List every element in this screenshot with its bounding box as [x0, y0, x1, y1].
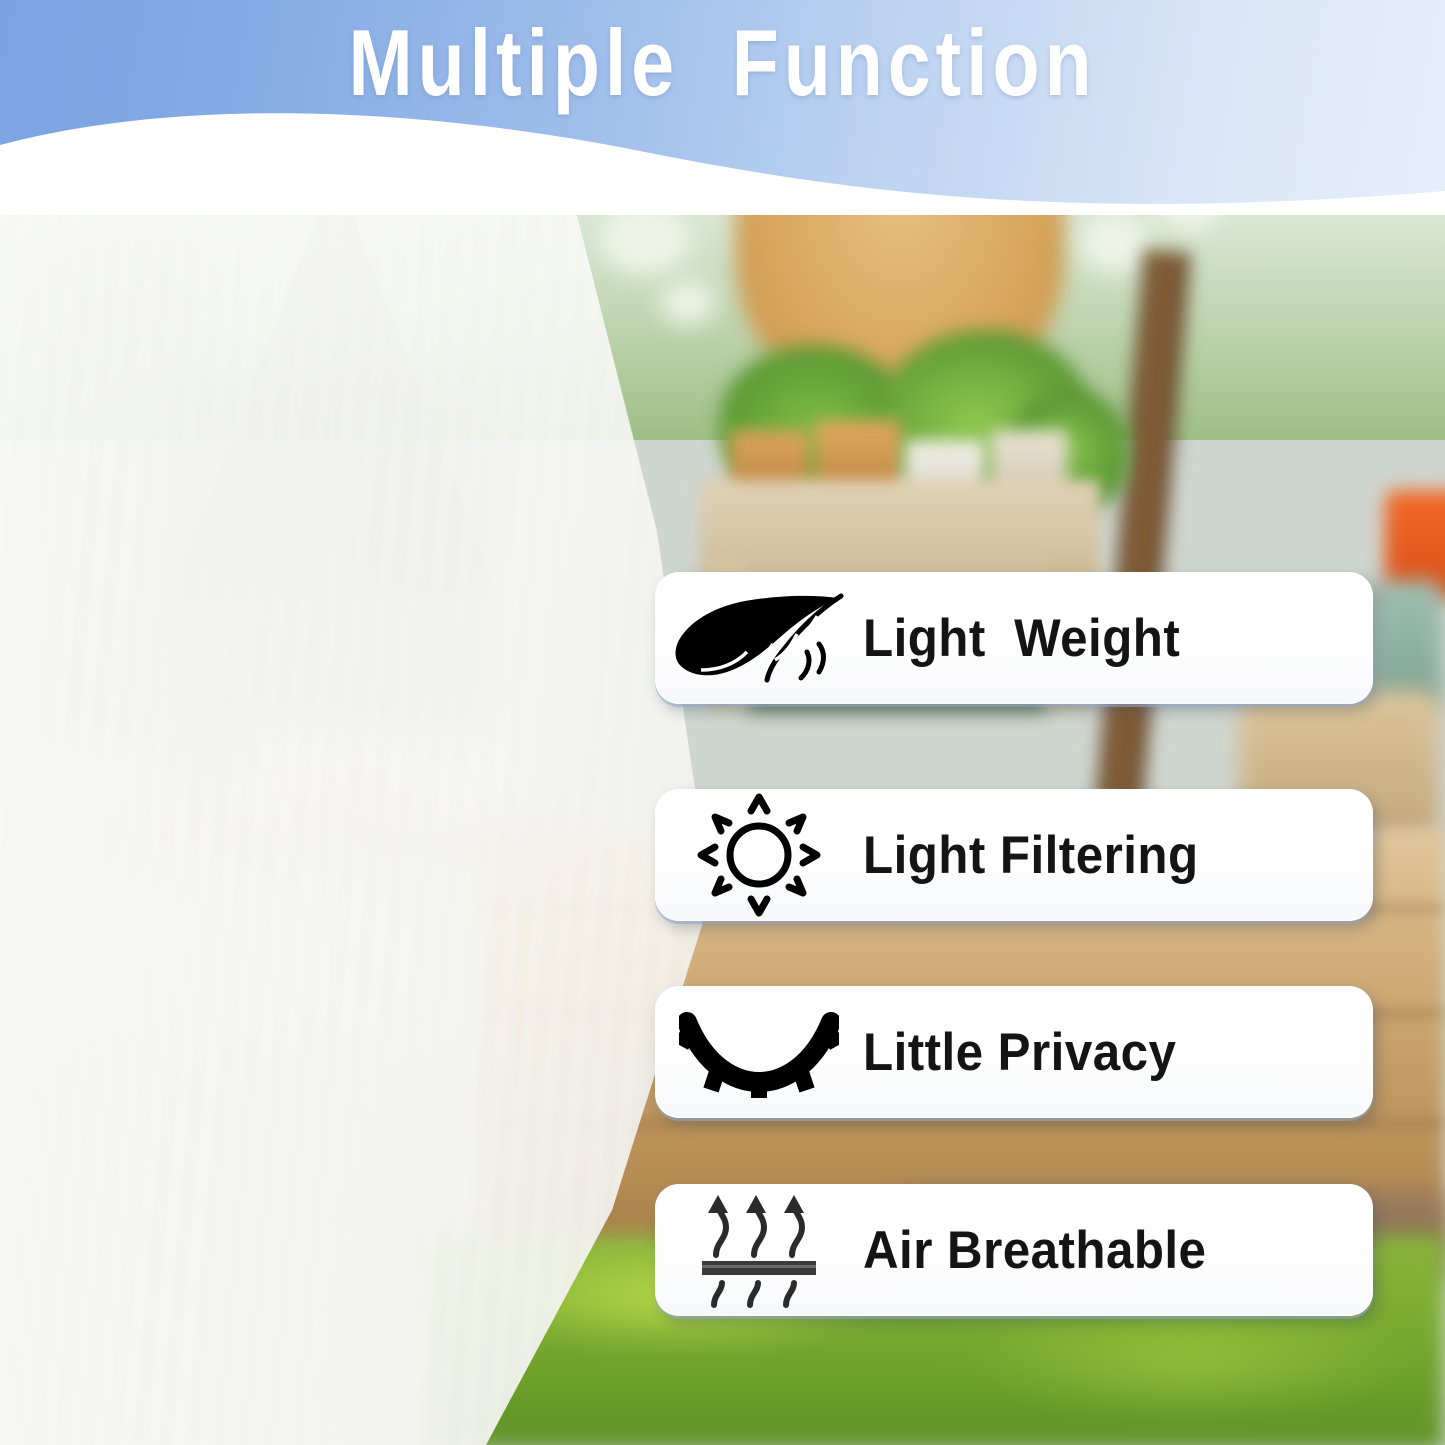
- feature-card-air-breathable[interactable]: Air Breathable: [655, 1184, 1373, 1316]
- feature-label: Little Privacy: [863, 1022, 1176, 1083]
- closed-eye-icon-glyph: [679, 1004, 839, 1100]
- airflow-breathable-icon-glyph: [696, 1187, 822, 1313]
- feature-label: Air Breathable: [863, 1220, 1206, 1281]
- feature-card-light-weight[interactable]: Light Weight: [655, 572, 1373, 704]
- feature-label: Light Weight: [863, 608, 1180, 669]
- feather-icon-glyph: [669, 590, 849, 686]
- feature-card-light-filtering[interactable]: Light Filtering: [655, 789, 1373, 921]
- airflow-breathable-icon: [655, 1184, 863, 1316]
- sun-icon-glyph: [695, 791, 823, 919]
- feather-icon: [655, 572, 863, 704]
- infographic-canvas: Multiple Function Light Wei: [0, 0, 1445, 1445]
- feature-label: Light Filtering: [863, 825, 1199, 886]
- feature-card-little-privacy[interactable]: Little Privacy: [655, 986, 1373, 1118]
- feature-card-list: Light Weight: [0, 0, 1445, 1445]
- sun-icon: [655, 789, 863, 921]
- closed-eye-icon: [655, 986, 863, 1118]
